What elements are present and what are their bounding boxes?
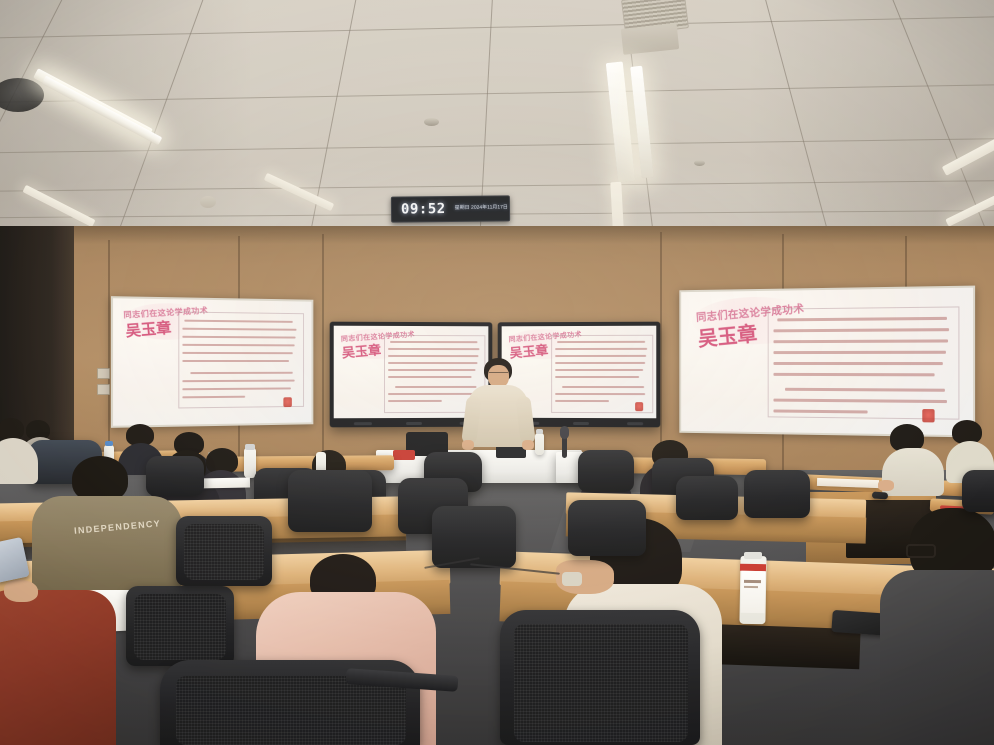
red-seal-stamp xyxy=(283,397,291,407)
khaki-jacket xyxy=(32,496,182,590)
student-hand xyxy=(4,580,38,602)
presenter-glasses-icon xyxy=(489,372,508,376)
tv-stand-foot xyxy=(406,422,422,425)
student-glasses-icon xyxy=(906,544,936,558)
thermos-cap xyxy=(245,444,255,450)
wall-panel-seam xyxy=(322,234,324,474)
tv-stand-foot xyxy=(573,422,589,425)
presenter-lecturer xyxy=(462,358,534,454)
lectern-red-object xyxy=(393,450,415,460)
slide-text-line xyxy=(388,355,478,357)
tv-stand-foot xyxy=(627,422,643,425)
clock-date: 星期日 2024年11月17日 xyxy=(455,206,508,212)
student-khaki-jacket xyxy=(32,478,182,588)
smoke-detector-icon xyxy=(694,160,705,166)
dark-grey-coat xyxy=(880,570,994,745)
ceiling-mount-bracket xyxy=(200,196,216,208)
presenter-hand xyxy=(522,440,534,450)
student-white-sweater xyxy=(878,424,946,494)
wall-switch-plate[interactable] xyxy=(97,384,110,395)
slide-right: 同志们在这论学成功术 吴玉章 xyxy=(681,288,973,436)
red-seal-stamp xyxy=(635,402,643,411)
chair-tier2-1-mesh[interactable] xyxy=(184,524,264,580)
right-projection-screen: 同志们在这论学成功术 吴玉章 xyxy=(679,286,975,438)
slide-text-line xyxy=(773,373,934,376)
student-front-left-edge xyxy=(0,418,38,482)
slide-text-line xyxy=(555,376,639,378)
slide-text-line xyxy=(390,341,477,343)
presenter-hand xyxy=(462,440,474,450)
wall-switch-plate[interactable] xyxy=(97,368,110,379)
slide-text-line xyxy=(557,341,645,343)
slide-text-line xyxy=(555,348,647,350)
smoke-detector-icon xyxy=(424,118,439,126)
chair-right-row[interactable] xyxy=(744,470,810,518)
slide-name-handwritten: 吴玉章 xyxy=(697,318,759,353)
bottle-label xyxy=(741,571,766,613)
wall-panel-seam xyxy=(108,240,110,460)
slide-name-handwritten: 吴玉章 xyxy=(341,339,382,361)
wristwatch xyxy=(562,572,582,586)
chair-front-center-mesh[interactable] xyxy=(514,624,688,742)
chair-far-right[interactable] xyxy=(962,470,994,512)
slide-text-line xyxy=(555,355,646,357)
bottle-label-text xyxy=(744,580,761,583)
left-projection-screen: 同志们在这论学成功术 吴玉章 xyxy=(111,296,313,428)
slide-text-line xyxy=(182,360,289,362)
microphone-head-icon xyxy=(560,426,569,439)
student-red-jacket xyxy=(0,590,116,745)
slide-text-line xyxy=(555,400,609,402)
chair-front-left-big-mesh[interactable] xyxy=(176,676,406,745)
slide-left: 同志们在这论学成功术 吴玉章 xyxy=(113,298,311,426)
student-dark-coat xyxy=(880,508,994,745)
slide-text-line xyxy=(182,352,292,354)
bottle-label-text xyxy=(744,586,758,588)
student-hair xyxy=(0,418,24,440)
slide-name-handwritten: 吴玉章 xyxy=(125,317,173,342)
slide-text-line xyxy=(562,386,644,388)
slide-text-line xyxy=(555,393,645,395)
tv-stand-foot xyxy=(354,422,372,425)
smartphone[interactable] xyxy=(872,491,888,499)
slide-text-line xyxy=(773,362,942,365)
slide-text-line xyxy=(388,348,479,350)
desk-paper xyxy=(196,478,250,489)
wall-top-shadow xyxy=(0,226,994,244)
chair-front-1-mesh[interactable] xyxy=(134,594,226,660)
slide-text-line xyxy=(555,369,643,371)
student-hand xyxy=(878,480,894,491)
chair-mid-4[interactable] xyxy=(578,450,634,492)
bottle-cap xyxy=(744,552,762,559)
slide-text-line xyxy=(388,376,472,378)
slide-text-line xyxy=(190,372,293,374)
water-bottle xyxy=(535,433,544,455)
lecture-hall-photo: 09:52 星期日 2024年11月17日 同志们在这论学成功术 吴玉章 xyxy=(0,0,994,745)
slide-text-line xyxy=(555,362,645,364)
student-top xyxy=(0,438,38,484)
ceiling-clock-display: 09:52 星期日 2024年11月17日 xyxy=(391,195,510,222)
bottle-cap xyxy=(105,441,113,446)
clock-time: 09:52 xyxy=(401,201,446,217)
thermos-flask xyxy=(244,448,256,478)
slide-text-line xyxy=(388,400,442,402)
chair-tier2-3[interactable] xyxy=(568,500,646,556)
chair-front-2[interactable] xyxy=(288,470,372,532)
red-puffer-jacket xyxy=(0,590,116,745)
red-seal-stamp xyxy=(922,409,934,422)
bottle-cap xyxy=(536,429,543,434)
chair-right-row-2[interactable] xyxy=(676,476,738,520)
slide-text-line xyxy=(773,351,946,354)
